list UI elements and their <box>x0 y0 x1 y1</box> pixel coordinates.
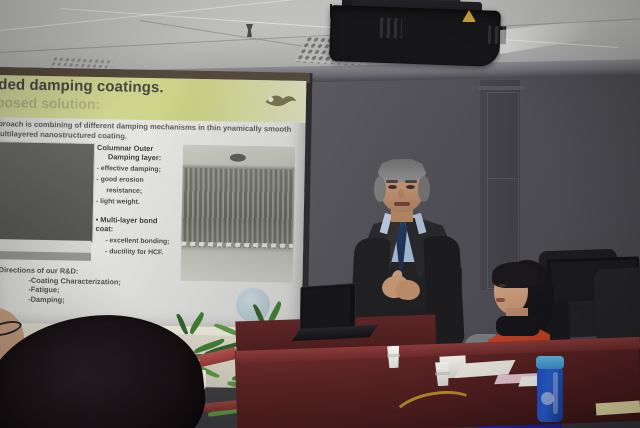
presenter-hair-left <box>374 176 386 202</box>
presenter-hair-right <box>418 176 430 202</box>
presenter-mouth <box>394 202 410 206</box>
slide-subtitle: pproach is combining of different dampin… <box>0 119 300 145</box>
ceiling-projector <box>329 5 501 67</box>
sem-defect-spot <box>230 154 246 162</box>
woman-black-turtleneck <box>496 316 540 336</box>
slide-title-line2: posed solution: <box>0 94 100 112</box>
slide-sem-micrograph <box>181 145 296 283</box>
slide-title-band: ded damping coatings. posed solution: <box>0 75 306 123</box>
water-bottle-label <box>541 392 554 405</box>
door-panel-line <box>487 178 517 179</box>
water-bottle-cap[interactable] <box>536 356 564 369</box>
slide-bullet-5-text: - excellent bonding; <box>95 236 181 247</box>
flying-bird-logo-icon <box>264 90 298 111</box>
slide-bullet-2: - good erosion <box>96 175 182 186</box>
slide-rd-heading: Directions of our R&D: <box>0 265 78 276</box>
woman-mouth <box>496 298 505 302</box>
woman-eye <box>498 284 506 287</box>
wall-column-cap <box>478 86 524 90</box>
slide-rd-directions: Directions of our R&D: -Coating Characte… <box>0 265 229 308</box>
slide-left-photo <box>0 141 95 243</box>
presenter-hair <box>378 158 426 182</box>
slide-title-line1: ded damping coatings. <box>0 76 164 96</box>
presenter-eye-left <box>388 185 397 189</box>
slide-column-heading2: • Multi-layer bond coat: <box>95 215 181 235</box>
slide-column-heading: Columnar Outer Damping layer: <box>97 143 183 163</box>
slide-bullet-5: - excellent bonding; <box>95 236 181 247</box>
slide-column-heading-line1: Columnar Outer <box>97 143 153 153</box>
slide-column-heading2-line2: coat: <box>95 224 181 235</box>
presenter-eye-right <box>406 185 415 189</box>
slide-bullet-4: - light weight. <box>96 197 182 208</box>
projector-vent-icon <box>380 18 403 39</box>
presenter-eyebrow-right <box>405 180 417 183</box>
sem-columnar-structure <box>181 168 294 249</box>
presenter-nose <box>398 189 404 199</box>
slide-bullet-6-text: - ductility for HCF. <box>95 247 181 258</box>
slide-left-photo-footer-bar <box>0 251 91 261</box>
projected-slide: ded damping coatings. posed solution: pp… <box>0 75 306 333</box>
slide-bullet-3-text: resistance; <box>96 186 182 197</box>
water-bottle-highlight <box>553 372 558 414</box>
slide-bullet-6: - ductility for HCF. <box>95 247 181 258</box>
paper-cup-1-band <box>387 354 400 357</box>
slide-bullet-column: Columnar Outer Damping layer: - effectiv… <box>95 143 183 257</box>
slide-bullet-3: resistance; <box>96 186 182 197</box>
slide-bullet-1: - effective damping; <box>97 164 183 175</box>
presentation-room-photo: ded damping coatings. posed solution: pp… <box>0 0 640 428</box>
presenter-eyebrow-left <box>386 180 398 183</box>
laptop-screen <box>303 286 351 328</box>
slide-column-heading-line2: Damping layer: <box>97 152 183 163</box>
